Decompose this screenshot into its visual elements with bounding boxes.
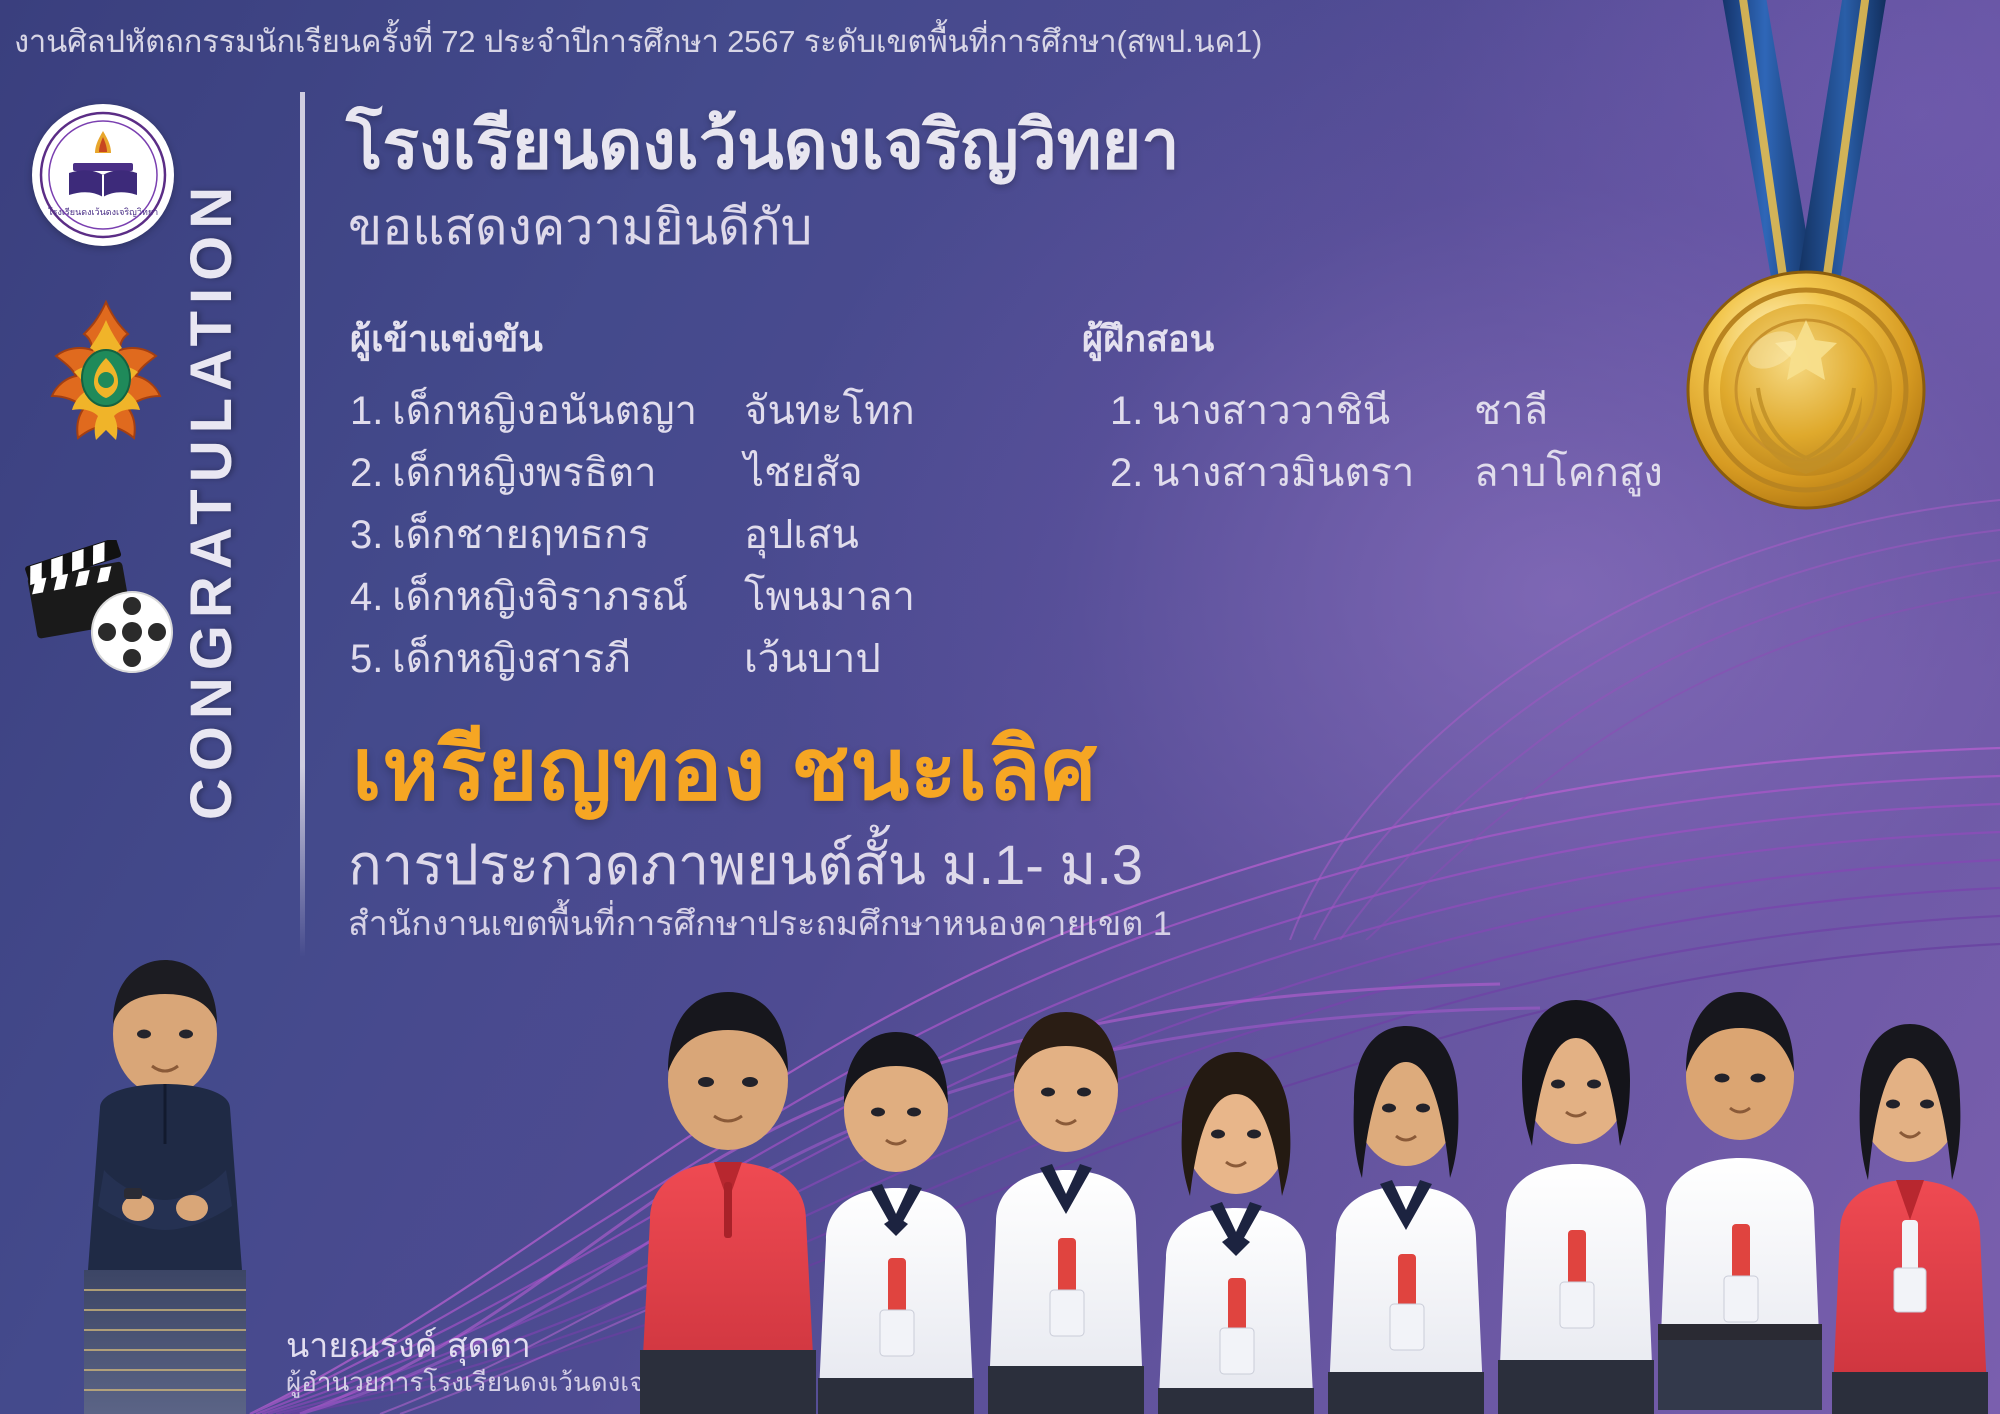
list-item-lastname: จันทะโทก <box>744 378 915 442</box>
list-item: 1. เด็กหญิงอนันตญา จันทะโทก <box>350 378 915 440</box>
page-title: โรงเรียนดงเว้นดงเจริญวิทยา <box>346 90 1180 198</box>
list-item: 4. เด็กหญิงจิราภรณ์ โพนมาลา <box>350 564 915 626</box>
congrats-subtitle: ขอแสดงความยินดีกับ <box>348 188 812 267</box>
list-item: 1. นางสาววาชินี ชาลี <box>1110 378 1663 440</box>
congratulation-text: CONGRATULATION <box>168 80 256 920</box>
list-item: 5. เด็กหญิงสารภี เว้นบาป <box>350 626 915 688</box>
director-photo <box>40 938 290 1414</box>
list-item-firstname: เด็กหญิงพรธิตา <box>392 440 744 504</box>
trainers-heading: ผู้ฝึกสอน <box>1082 310 1214 367</box>
list-item-lastname: โพนมาลา <box>744 564 915 628</box>
list-item: 2. เด็กหญิงพรธิตา ไชยสัจ <box>350 440 915 502</box>
list-item-lastname: ชาลี <box>1474 378 1548 442</box>
congratulation-vertical-wrap: CONGRATULATION <box>168 80 258 920</box>
list-item-number: 3. <box>350 513 392 558</box>
congratulation-poster: งานศิลปหัตถกรรมนักเรียนครั้งที่ 72 ประจำ… <box>0 0 2000 1414</box>
list-item-lastname: เว้นบาป <box>744 626 881 690</box>
list-item-firstname: เด็กชายฤทธกร <box>392 502 744 566</box>
list-item-number: 2. <box>350 451 392 496</box>
list-item-number: 5. <box>350 637 392 682</box>
list-item-number: 4. <box>350 575 392 620</box>
svg-text:โรงเรียนดงเว้นดงเจริญวิทยา: โรงเรียนดงเว้นดงเจริญวิทยา <box>48 207 158 217</box>
list-item-lastname: ลาบโคกสูง <box>1474 440 1663 504</box>
list-item-lastname: ไชยสัจ <box>744 440 863 504</box>
trainers-list: 1. นางสาววาชินี ชาลี 2. นางสาวมินตรา ลาบ… <box>1110 378 1663 502</box>
competitors-heading: ผู้เข้าแข่งขัน <box>350 310 543 367</box>
event-header-line: งานศิลปหัตถกรรมนักเรียนครั้งที่ 72 ประจำ… <box>14 16 1262 66</box>
list-item-number: 1. <box>350 389 392 434</box>
list-item-firstname: นางสาวมินตรา <box>1152 440 1474 504</box>
vertical-divider <box>300 92 305 957</box>
list-item-firstname: เด็กหญิงจิราภรณ์ <box>392 564 744 628</box>
students-group-photo <box>620 930 2000 1414</box>
gold-medal-icon <box>1640 0 1980 550</box>
school-crest-icon: โรงเรียนดงเว้นดงเจริญวิทยา <box>32 104 174 246</box>
list-item: 3. เด็กชายฤทธกร อุปเสน <box>350 502 915 564</box>
list-item-number: 1. <box>1110 389 1152 434</box>
list-item-firstname: นางสาววาชินี <box>1152 378 1474 442</box>
list-item: 2. นางสาวมินตรา ลาบโคกสูง <box>1110 440 1663 502</box>
list-item-lastname: อุปเสน <box>744 502 859 566</box>
garuda-icon <box>36 298 176 444</box>
list-item-firstname: เด็กหญิงสารภี <box>392 626 744 690</box>
clapperboard-film-icon <box>24 540 190 680</box>
list-item-number: 2. <box>1110 451 1152 496</box>
award-title: เหรียญทอง ชนะเลิศ <box>352 700 1097 837</box>
competitors-list: 1. เด็กหญิงอนันตญา จันทะโทก 2. เด็กหญิงพ… <box>350 378 915 688</box>
list-item-firstname: เด็กหญิงอนันตญา <box>392 378 744 442</box>
